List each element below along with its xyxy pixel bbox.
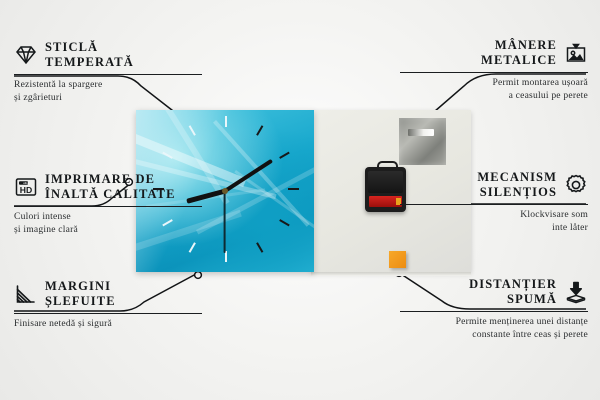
- feature-glass-sub-1: Rezistentă la spargere: [14, 79, 202, 91]
- feature-mechanism-sub-2: inte låter: [400, 222, 588, 234]
- tick-2: [279, 152, 290, 159]
- tick-3: [288, 188, 299, 190]
- feature-mechanism-sub-1: Klockvisare som: [400, 209, 588, 221]
- feature-print: ultra HD IMPRIMARE DE ÎNALTĂ CALITATE Cu…: [14, 172, 202, 236]
- feature-mechanism: MECANISM SILENȚIOS Klockvisare som inte …: [400, 170, 588, 234]
- polished-edge-icon: [14, 282, 38, 306]
- battery: [369, 196, 402, 207]
- diamond-icon: [14, 43, 38, 67]
- second-hand: [224, 191, 226, 253]
- tick-1: [256, 125, 263, 136]
- divider: [400, 72, 588, 74]
- ultra-hd-icon: ultra HD: [14, 175, 38, 199]
- feature-glass-title-1: STICLĂ: [45, 40, 134, 55]
- divider: [14, 313, 202, 315]
- tick-4: [279, 219, 290, 226]
- feature-mechanism-title-2: SILENȚIOS: [477, 185, 557, 200]
- divider: [400, 204, 588, 206]
- feature-spacer-sub-1: Permite menținerea unei distanțe: [400, 316, 588, 328]
- divider: [14, 74, 202, 76]
- tick-7: [189, 242, 196, 253]
- feature-glass-sub-2: și zgârieturi: [14, 92, 202, 104]
- feature-glass-title-2: TEMPERATĂ: [45, 55, 134, 70]
- metal-hanger-plate: [399, 118, 446, 165]
- feature-spacer-title-2: SPUMĂ: [469, 292, 557, 307]
- tick-11: [189, 125, 196, 136]
- feature-edges-sub-1: Finisare netedă și sigură: [14, 318, 202, 330]
- hanger-slot: [408, 129, 434, 136]
- feature-spacer: DISTANȚIER SPUMĂ Permite menținerea unei…: [400, 277, 588, 341]
- wall-frame-icon: [564, 41, 588, 65]
- feature-print-title-2: ÎNALTĂ CALITATE: [45, 187, 176, 202]
- mechanism-body: [368, 171, 403, 193]
- feature-edges: MARGINI ȘLEFUITE Finisare netedă și sigu…: [14, 279, 202, 331]
- feature-hooks-sub-2: a ceasului pe perete: [400, 90, 588, 102]
- feature-hooks-title-2: METALICE: [481, 53, 557, 68]
- feature-mechanism-title-1: MECANISM: [477, 170, 557, 185]
- svg-text:HD: HD: [20, 185, 32, 195]
- feature-print-title-1: IMPRIMARE DE: [45, 172, 176, 187]
- tick-12: [225, 116, 227, 127]
- feature-spacer-sub-2: constante între ceas și perete: [400, 329, 588, 341]
- clock-pivot: [222, 188, 228, 194]
- foam-pad-arrow-icon: [564, 280, 588, 304]
- divider: [400, 311, 588, 313]
- gear-icon: [564, 173, 588, 197]
- feature-glass: STICLĂ TEMPERATĂ Rezistentă la spargere …: [14, 40, 202, 104]
- tick-5: [256, 242, 263, 253]
- feature-print-sub-1: Culori intense: [14, 211, 202, 223]
- foam-spacer-pad: [389, 251, 406, 268]
- feature-hooks-title-1: MÂNERE: [481, 38, 557, 53]
- feature-edges-title-1: MARGINI: [45, 279, 116, 294]
- endpoint-edges: [195, 272, 202, 279]
- feature-hooks-sub-1: Permit montarea ușoară: [400, 77, 588, 89]
- feature-spacer-title-1: DISTANȚIER: [469, 277, 557, 292]
- feature-edges-title-2: ȘLEFUITE: [45, 294, 116, 309]
- infographic-canvas: STICLĂ TEMPERATĂ Rezistentă la spargere …: [0, 0, 600, 400]
- feature-print-sub-2: și imagine clară: [14, 224, 202, 236]
- feature-hooks: MÂNERE METALICE Permit montarea ușoară a…: [400, 38, 588, 102]
- divider: [14, 206, 202, 208]
